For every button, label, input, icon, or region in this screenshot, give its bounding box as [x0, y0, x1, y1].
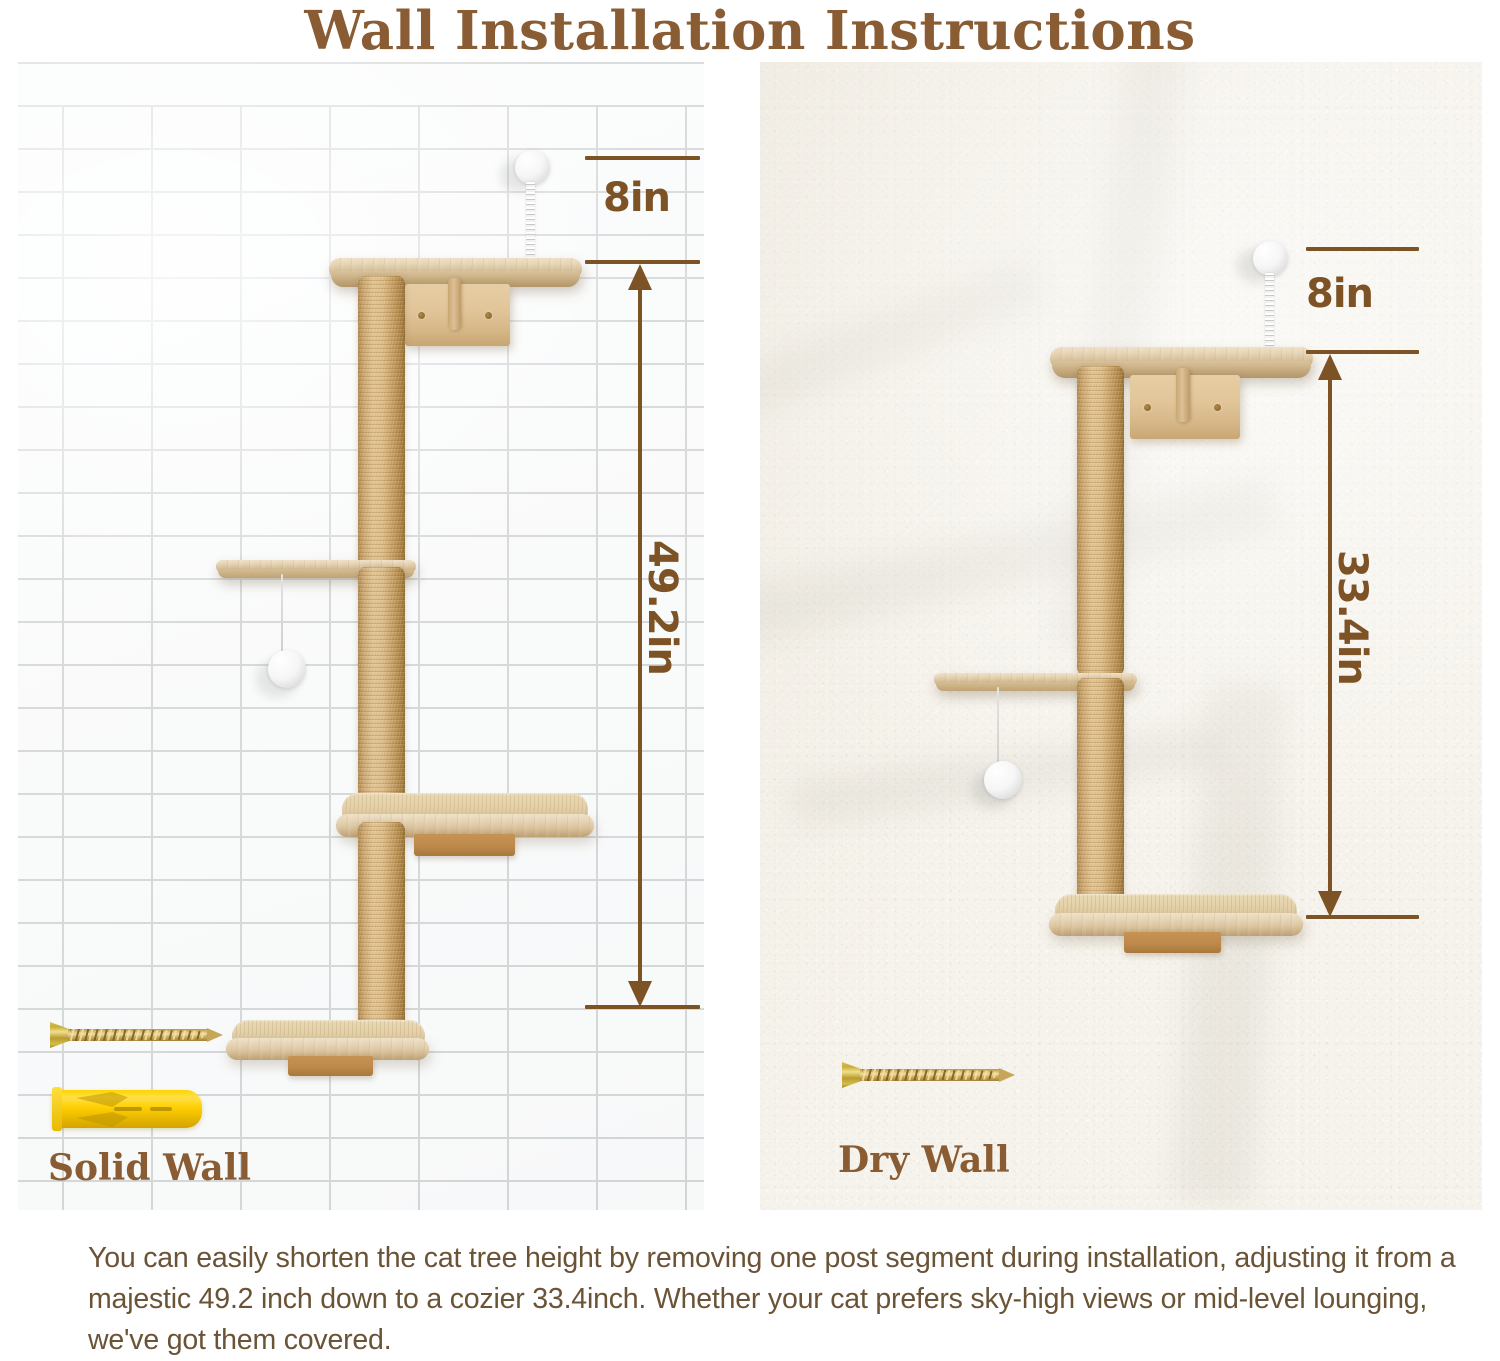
- dim-arrow-down: [1318, 891, 1342, 917]
- anchor-slot-left: [114, 1107, 142, 1111]
- sisal-post-lower: [1077, 678, 1124, 916]
- mid-platform-brace: [414, 834, 515, 856]
- dry-wall-caption: Dry Wall: [838, 1142, 1010, 1178]
- sisal-post-upper: [358, 276, 405, 576]
- top-pompom-icon: [515, 150, 550, 185]
- sisal-post-lower: [358, 822, 405, 1044]
- bracket-center-tab: [1176, 368, 1190, 422]
- screw-head: [842, 1062, 862, 1088]
- bracket-screw-hole-left: [418, 312, 425, 319]
- toy-spring: [526, 182, 535, 270]
- dim-tick-top: [585, 156, 700, 160]
- dim-tick-bottom: [585, 1005, 700, 1009]
- anchor-fin-top: [76, 1092, 128, 1107]
- anchor-collar: [52, 1087, 62, 1131]
- page-title: Wall Installation Instructions: [304, 5, 1195, 58]
- dim-tick-top: [1306, 247, 1419, 251]
- pompom-string: [997, 687, 999, 765]
- dim-label-total: 33.4in: [1332, 550, 1372, 685]
- solid-wall-caption: Solid Wall: [48, 1150, 251, 1186]
- sisal-post-middle: [358, 567, 405, 815]
- sisal-post-upper: [1077, 366, 1124, 676]
- bracket-screw-hole-right: [1214, 404, 1221, 411]
- description-text: You can easily shorten the cat tree heig…: [88, 1238, 1464, 1361]
- mid-pompom-icon: [268, 650, 306, 688]
- wood-screw-solid: [50, 1022, 222, 1048]
- dim-label-8in: 8in: [1306, 274, 1373, 314]
- screw-head: [50, 1022, 70, 1048]
- solid-wall-panel: 8in 49.2in Solid Wall: [18, 62, 704, 1210]
- screw-tip: [207, 1028, 223, 1042]
- pompom-string: [281, 574, 283, 654]
- bracket-screw-hole-right: [485, 312, 492, 319]
- mid-pompom-icon: [984, 761, 1022, 799]
- dim-label-8in: 8in: [603, 178, 670, 218]
- dim-arrow-down: [628, 981, 652, 1007]
- anchor-fin-bottom: [76, 1112, 128, 1127]
- page-header: Wall Installation Instructions: [0, 0, 1500, 62]
- anchor-slot-right: [150, 1107, 172, 1111]
- wood-screw-dry: [842, 1062, 1014, 1088]
- wall-anchor-yellow: [52, 1090, 202, 1128]
- bottom-platform-brace: [288, 1056, 373, 1076]
- screw-threads: [70, 1024, 210, 1046]
- bracket-screw-hole-left: [1144, 404, 1151, 411]
- dim-tick-bottom: [1306, 915, 1419, 919]
- dim-label-total: 49.2in: [642, 540, 682, 675]
- bottom-platform-brace: [1124, 932, 1221, 953]
- bracket-center-tab: [448, 278, 461, 330]
- dry-wall-panel: 8in 33.4in Dry Wall: [760, 62, 1482, 1210]
- screw-tip: [999, 1068, 1015, 1082]
- screw-threads: [862, 1064, 1002, 1086]
- top-pompom-icon: [1253, 241, 1288, 276]
